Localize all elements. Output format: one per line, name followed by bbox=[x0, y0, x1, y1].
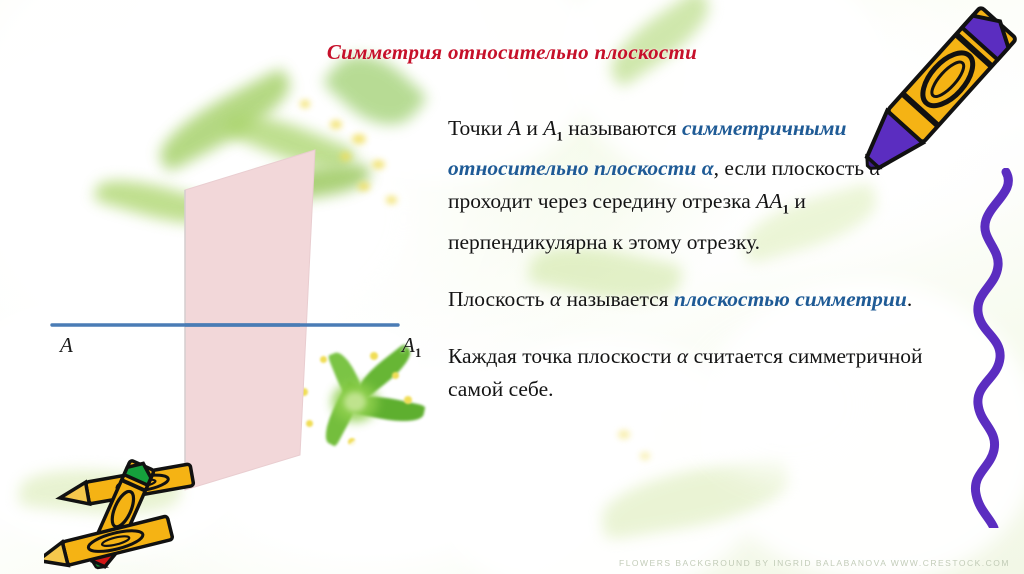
highlight-plane-of-symmetry: плоскостью симметрии bbox=[674, 287, 907, 311]
paragraph-plane-of-symmetry: Плоскость α называется плоскостью симмет… bbox=[448, 283, 948, 316]
run-text: называется bbox=[561, 287, 674, 311]
run-text: . bbox=[907, 287, 912, 311]
paragraph-definition: Точки A и A1 называются симметричными от… bbox=[448, 112, 948, 259]
stock-watermark: FLOWERS BACKGROUND BY INGRID BALABANOVA … bbox=[619, 558, 1010, 568]
slide-canvas: Симметрия относительно плоскости A A1 То… bbox=[0, 0, 1024, 574]
paragraph-fixed-points: Каждая точка плоскости α считается симме… bbox=[448, 340, 948, 406]
alpha-symbol: α bbox=[550, 287, 561, 311]
symmetry-plane-diagram: A A1 bbox=[0, 0, 440, 574]
math-var-a1: A1 bbox=[543, 116, 563, 140]
run-text: называются bbox=[563, 116, 682, 140]
math-var-aa1-letters: AA bbox=[756, 189, 782, 213]
run-text: и bbox=[521, 116, 543, 140]
highlight-alpha: α bbox=[702, 156, 714, 180]
point-label-a1-subscript: 1 bbox=[415, 345, 422, 360]
run-text: Точки bbox=[448, 116, 508, 140]
run-text: проходит через середину отрезка bbox=[448, 189, 756, 213]
math-var-a1-letter: A bbox=[543, 116, 556, 140]
plane-alpha-shape bbox=[185, 150, 315, 490]
alpha-symbol: α bbox=[869, 156, 880, 180]
point-label-a1-letter: A bbox=[402, 333, 415, 357]
point-label-a1: A1 bbox=[402, 333, 421, 361]
run-text: Каждая точка плоскости bbox=[448, 344, 677, 368]
run-text: , если плоскость bbox=[714, 156, 870, 180]
alpha-symbol: α bbox=[677, 344, 688, 368]
math-var-aa1: AA1 bbox=[756, 189, 789, 213]
body-copy: Точки A и A1 называются симметричными от… bbox=[448, 112, 948, 406]
point-label-a: A bbox=[60, 333, 73, 358]
math-var-a: A bbox=[508, 116, 521, 140]
run-text: Плоскость bbox=[448, 287, 550, 311]
